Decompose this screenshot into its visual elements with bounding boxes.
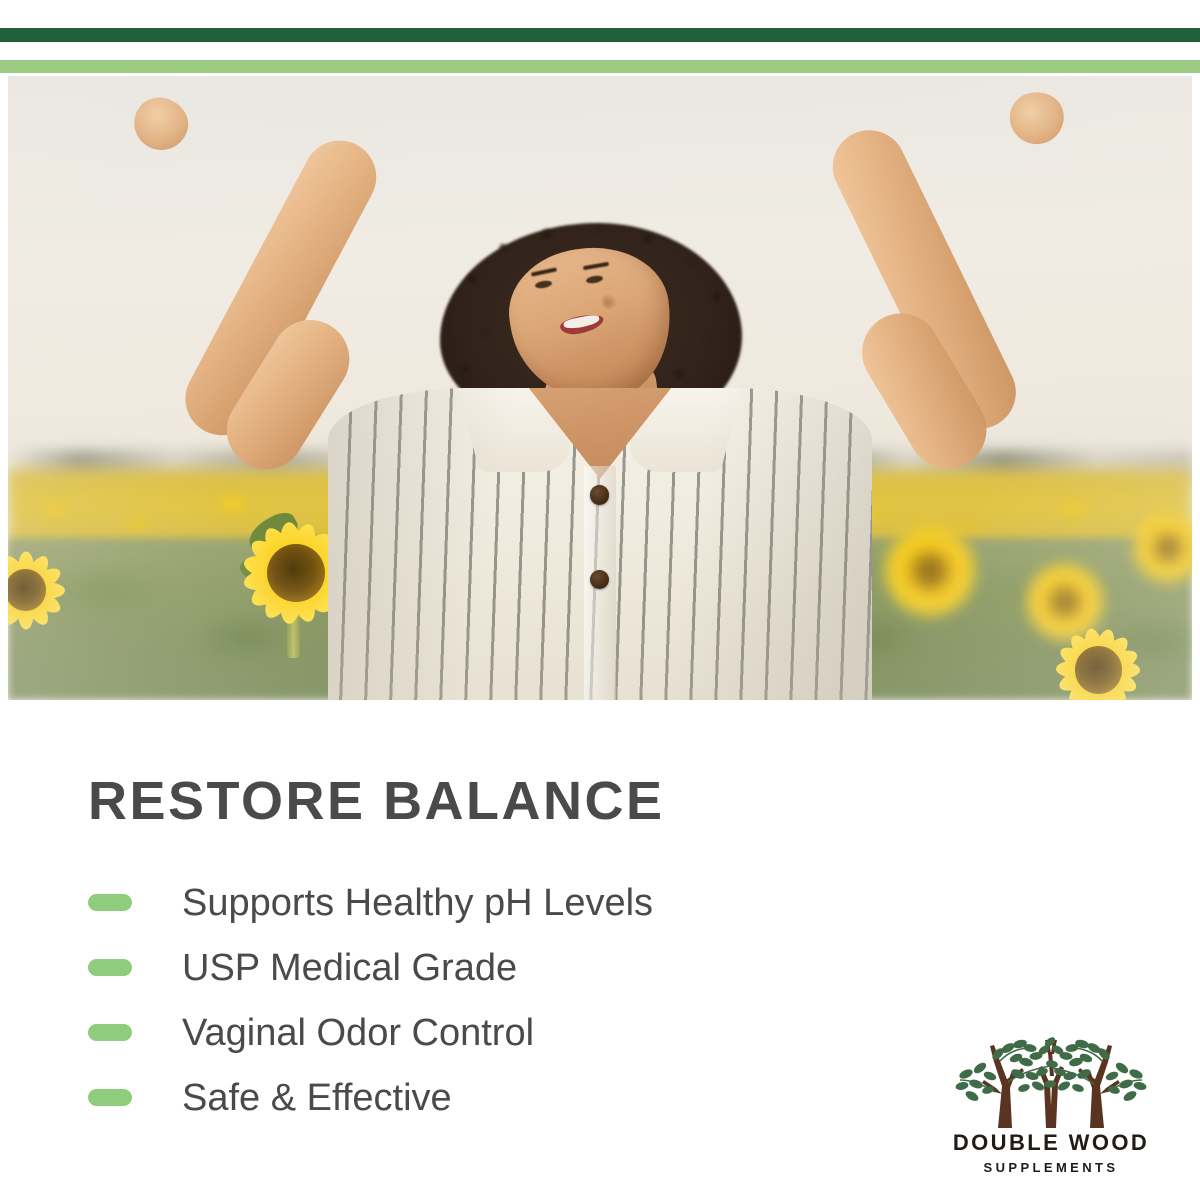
bullet-pill-icon (88, 1089, 132, 1106)
woman-figure (8, 76, 1192, 700)
bullet-pill-icon (88, 894, 132, 911)
bullet-pill-icon (88, 959, 132, 976)
shirt-shading (328, 388, 873, 700)
left-hand (128, 93, 194, 157)
hero-scene (8, 76, 1192, 700)
brand-name: DOUBLE WOOD (946, 1130, 1156, 1156)
page-title: RESTORE BALANCE (88, 770, 665, 832)
product-graphic: RESTORE BALANCE Supports Healthy pH Leve… (0, 0, 1200, 1200)
list-item-label: Vaginal Odor Control (182, 1014, 534, 1052)
list-item: Safe & Effective (88, 1065, 908, 1130)
striped-shirt (328, 388, 873, 700)
list-item: USP Medical Grade (88, 935, 908, 1000)
brand-logo: DOUBLE WOOD SUPPLEMENTS (946, 1028, 1156, 1180)
top-dark-rule (0, 28, 1200, 42)
benefits-list: Supports Healthy pH Levels USP Medical G… (88, 870, 908, 1130)
right-hand (1004, 86, 1070, 150)
list-item-label: Supports Healthy pH Levels (182, 884, 653, 922)
double-tree-icon (946, 1028, 1156, 1128)
list-item: Supports Healthy pH Levels (88, 870, 908, 935)
list-item-label: USP Medical Grade (182, 949, 517, 987)
list-item-label: Safe & Effective (182, 1079, 452, 1117)
list-item: Vaginal Odor Control (88, 1000, 908, 1065)
brand-subtitle: SUPPLEMENTS (946, 1160, 1156, 1175)
hero-photo (8, 76, 1192, 700)
top-light-rule (0, 60, 1200, 73)
bullet-pill-icon (88, 1024, 132, 1041)
